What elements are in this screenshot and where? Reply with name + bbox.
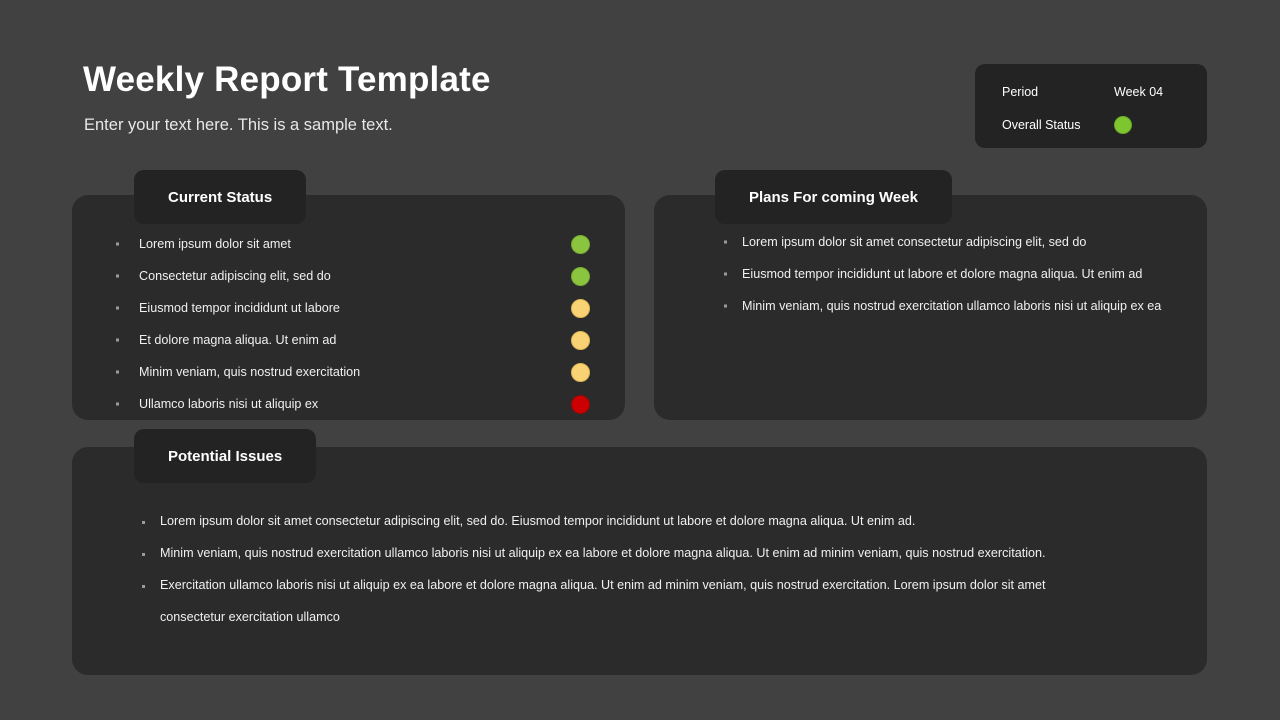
bullet-icon — [116, 371, 119, 374]
list-item-label: Consectetur adipiscing elit, sed do — [139, 269, 571, 283]
list-item-label: Eiusmod tempor incididunt ut labore et d… — [742, 258, 1142, 290]
status-indicator-icon — [571, 395, 590, 414]
bullet-icon — [142, 521, 145, 524]
panel-title: Potential Issues — [168, 448, 282, 465]
list-item: Ullamco laboris nisi ut aliquip ex — [139, 388, 597, 420]
panel-title: Current Status — [168, 189, 272, 206]
list-item: Eiusmod tempor incididunt ut labore — [139, 292, 597, 324]
list-item: Et dolore magna aliqua. Ut enim ad — [139, 324, 597, 356]
bullet-icon — [724, 241, 727, 244]
status-indicator-icon — [571, 235, 590, 254]
current-status-list: Lorem ipsum dolor sit amet Consectetur a… — [72, 228, 625, 420]
period-value: Week 04 — [1114, 85, 1163, 99]
list-item: Exercitation ullamco laboris nisi ut ali… — [160, 569, 1112, 633]
list-item-label: Lorem ipsum dolor sit amet — [139, 237, 571, 251]
page-title: Weekly Report Template — [83, 60, 491, 100]
list-item: Eiusmod tempor incididunt ut labore et d… — [742, 258, 1187, 290]
list-item: Minim veniam, quis nostrud exercitation — [139, 356, 597, 388]
list-item-label: Lorem ipsum dolor sit amet consectetur a… — [160, 505, 915, 537]
bullet-icon — [724, 273, 727, 276]
list-item: Lorem ipsum dolor sit amet — [139, 228, 597, 260]
bullet-icon — [116, 403, 119, 406]
meta-row-period: Period Week 04 — [1002, 79, 1183, 105]
panel-header-plans: Plans For coming Week — [715, 170, 952, 224]
panel-header-potential-issues: Potential Issues — [134, 429, 316, 483]
list-item: Minim veniam, quis nostrud exercitation … — [742, 290, 1187, 322]
list-item-label: Eiusmod tempor incididunt ut labore — [139, 301, 571, 315]
issues-list: Lorem ipsum dolor sit amet consectetur a… — [72, 505, 1207, 633]
list-item-label: Lorem ipsum dolor sit amet consectetur a… — [742, 226, 1086, 258]
bullet-icon — [142, 553, 145, 556]
panel-plans-for-coming-week: Lorem ipsum dolor sit amet consectetur a… — [654, 195, 1207, 420]
list-item: Consectetur adipiscing elit, sed do — [139, 260, 597, 292]
list-item-label: Minim veniam, quis nostrud exercitation — [139, 365, 571, 379]
overall-status-label: Overall Status — [1002, 118, 1114, 132]
plans-list: Lorem ipsum dolor sit amet consectetur a… — [654, 226, 1207, 322]
panel-header-current-status: Current Status — [134, 170, 306, 224]
list-item: Lorem ipsum dolor sit amet consectetur a… — [742, 226, 1187, 258]
bullet-icon — [116, 339, 119, 342]
slide-canvas: Weekly Report Template Enter your text h… — [0, 0, 1280, 720]
period-label: Period — [1002, 85, 1114, 99]
status-indicator-icon — [571, 363, 590, 382]
report-meta-card: Period Week 04 Overall Status — [975, 64, 1207, 148]
bullet-icon — [142, 585, 145, 588]
status-indicator-icon — [571, 331, 590, 350]
list-item-label: Et dolore magna aliqua. Ut enim ad — [139, 333, 571, 347]
list-item-label: Exercitation ullamco laboris nisi ut ali… — [160, 569, 1112, 633]
panel-current-status: Lorem ipsum dolor sit amet Consectetur a… — [72, 195, 625, 420]
bullet-icon — [116, 307, 119, 310]
panel-title: Plans For coming Week — [749, 189, 918, 206]
bullet-icon — [724, 305, 727, 308]
list-item-label: Minim veniam, quis nostrud exercitation … — [160, 537, 1046, 569]
bullet-icon — [116, 275, 119, 278]
list-item-label: Ullamco laboris nisi ut aliquip ex — [139, 397, 571, 411]
bullet-icon — [116, 243, 119, 246]
overall-status-indicator-icon — [1114, 116, 1132, 134]
page-subtitle: Enter your text here. This is a sample t… — [84, 116, 393, 135]
list-item-label: Minim veniam, quis nostrud exercitation … — [742, 290, 1161, 322]
list-item: Lorem ipsum dolor sit amet consectetur a… — [160, 505, 1112, 537]
status-indicator-icon — [571, 267, 590, 286]
meta-row-overall-status: Overall Status — [1002, 112, 1183, 138]
list-item: Minim veniam, quis nostrud exercitation … — [160, 537, 1112, 569]
status-indicator-icon — [571, 299, 590, 318]
